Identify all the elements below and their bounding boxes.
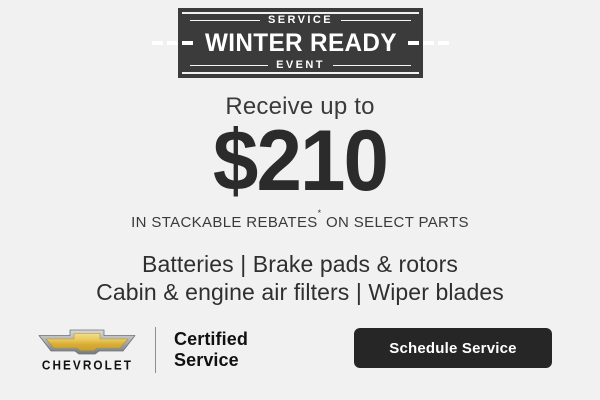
rule-right-bottom xyxy=(333,65,411,66)
chevrolet-bowtie-icon xyxy=(35,329,139,355)
banner-title: WINTER READY xyxy=(205,31,397,56)
parts-line-1: Batteries | Brake pads & rotors xyxy=(0,250,600,278)
schedule-service-button[interactable]: Schedule Service xyxy=(354,328,552,368)
banner-kicker-event: EVENT xyxy=(276,60,325,71)
certified-line-2: Service xyxy=(174,350,248,371)
rule-left-top xyxy=(190,20,260,21)
certified-service-label: Certified Service xyxy=(174,329,248,371)
parts-line-2: Cabin & engine air filters | Wiper blade… xyxy=(0,278,600,306)
dashes-left-icon xyxy=(152,41,193,45)
dash-icon xyxy=(408,41,419,45)
rule-left-bottom xyxy=(190,65,268,66)
offer-terms-text: IN STACKABLE REBATES xyxy=(131,214,318,231)
banner-kicker-bottom-row: EVENT xyxy=(178,57,423,74)
brand-divider xyxy=(155,327,156,373)
rule-right-top xyxy=(341,20,411,21)
covered-parts-list: Batteries | Brake pads & rotors Cabin & … xyxy=(0,250,600,306)
certified-line-1: Certified xyxy=(174,329,248,350)
dash-icon xyxy=(182,41,193,45)
offer-terms-suffix: ON SELECT PARTS xyxy=(322,214,469,231)
banner-kicker-top-row: SERVICE xyxy=(178,12,423,29)
offer-terms: IN STACKABLE REBATES* ON SELECT PARTS xyxy=(0,214,600,230)
offer-amount: $210 xyxy=(15,118,585,204)
brand-lockup: CHEVROLET Certified Service xyxy=(33,322,248,378)
dash-icon xyxy=(423,41,434,45)
winter-ready-event-banner: SERVICE WINTER READY EVENT xyxy=(178,8,423,78)
chevrolet-logo: CHEVROLET xyxy=(33,329,141,371)
dash-icon xyxy=(152,41,163,45)
banner-kicker-service: SERVICE xyxy=(268,15,333,26)
chevrolet-wordmark: CHEVROLET xyxy=(41,358,132,371)
dash-icon xyxy=(167,41,178,45)
dash-icon xyxy=(438,41,449,45)
dashes-right-icon xyxy=(408,41,449,45)
banner-title-row: WINTER READY xyxy=(178,29,423,57)
footnote-marker: * xyxy=(318,208,322,218)
advertisement-banner: SERVICE WINTER READY EVENT Receive up to… xyxy=(0,0,600,400)
